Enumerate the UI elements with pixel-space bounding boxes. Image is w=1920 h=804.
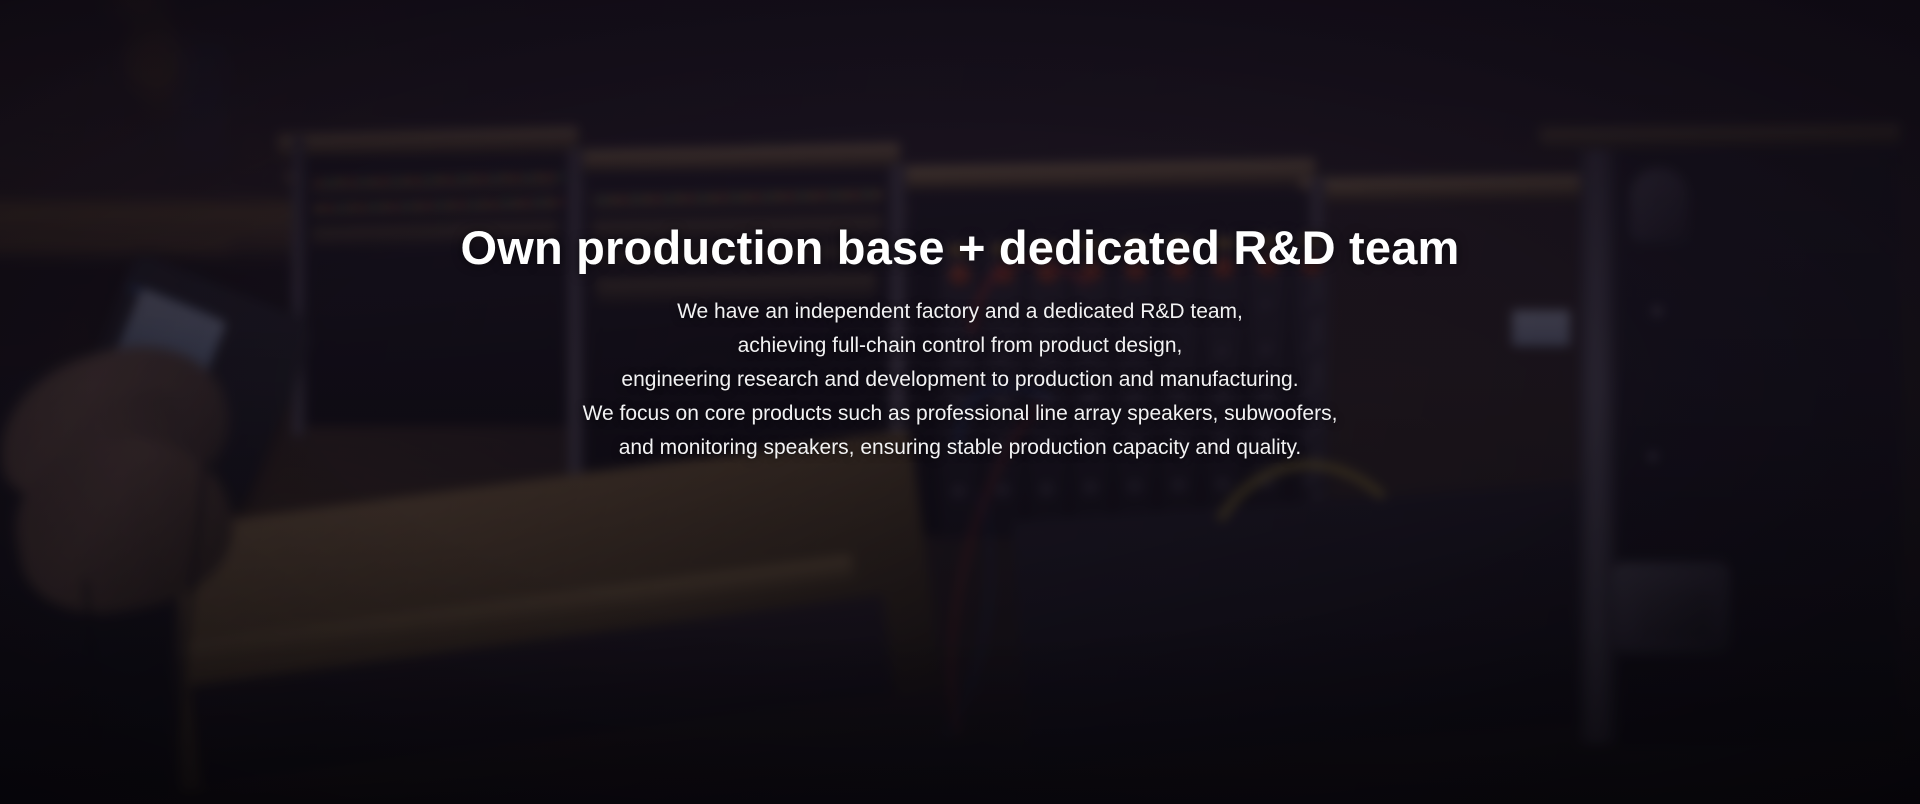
hero-banner: Own production base + dedicated R&D team…	[0, 0, 1920, 804]
hero-description: We have an independent factory and a ded…	[583, 295, 1338, 465]
hero-description-line: engineering research and development to …	[583, 363, 1338, 397]
hero-description-line: and monitoring speakers, ensuring stable…	[583, 431, 1338, 465]
hero-description-line: We have an independent factory and a ded…	[583, 295, 1338, 329]
hero-description-line: We focus on core products such as profes…	[583, 397, 1338, 431]
hero-description-line: achieving full-chain control from produc…	[583, 329, 1338, 363]
page-title: Own production base + dedicated R&D team	[460, 219, 1459, 276]
hero-content: Own production base + dedicated R&D team…	[0, 0, 1920, 804]
